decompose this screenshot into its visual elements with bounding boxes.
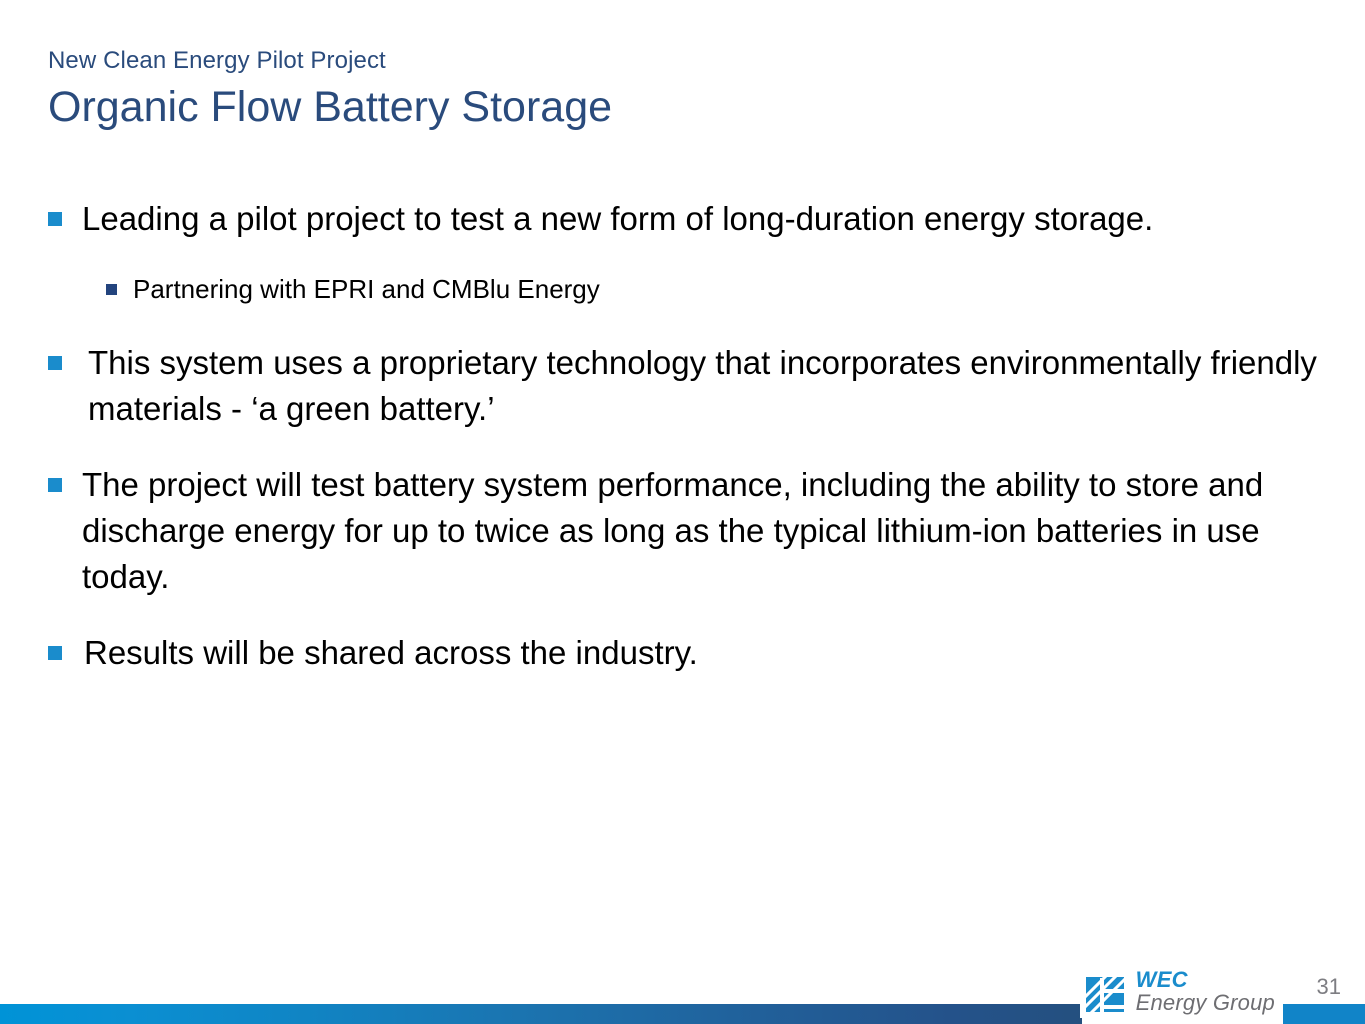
page-number: 31 — [1317, 974, 1341, 1000]
title-block: New Clean Energy Pilot Project Organic F… — [48, 46, 1248, 134]
bullet-list: Leading a pilot project to test a new fo… — [48, 196, 1338, 706]
list-item-label: Leading a pilot project to test a new fo… — [82, 196, 1153, 242]
wec-logo-text: WEC Energy Group — [1136, 969, 1275, 1014]
list-item-label: The project will test battery system per… — [82, 462, 1312, 600]
list-item: Results will be shared across the indust… — [48, 630, 1338, 676]
wec-logo-brand-secondary: Energy Group — [1136, 992, 1275, 1014]
bullet-square-icon — [48, 478, 62, 492]
list-item: This system uses a proprietary technolog… — [48, 340, 1338, 432]
list-item-sub-label: Partnering with EPRI and CMBlu Energy — [133, 272, 600, 306]
wec-energy-group-logo: WEC Energy Group — [1080, 965, 1283, 1018]
list-item-sub: Partnering with EPRI and CMBlu Energy — [106, 272, 1338, 306]
bullet-square-icon — [48, 212, 62, 226]
sub-bullet-square-icon — [106, 284, 117, 295]
list-item: Leading a pilot project to test a new fo… — [48, 196, 1338, 242]
footer-gradient-bar — [0, 1004, 1082, 1024]
bullet-square-icon — [48, 356, 62, 370]
slide-canvas: New Clean Energy Pilot Project Organic F… — [0, 0, 1365, 1024]
list-item-label: Results will be shared across the indust… — [82, 630, 698, 676]
wec-logo-mark-icon — [1086, 972, 1128, 1012]
footer-accent-block — [1283, 1004, 1365, 1024]
wec-logo-brand-primary: WEC — [1136, 969, 1275, 991]
list-item: The project will test battery system per… — [48, 462, 1338, 600]
list-item-label: This system uses a proprietary technolog… — [82, 340, 1318, 432]
slide-eyebrow: New Clean Energy Pilot Project — [48, 46, 1248, 76]
bullet-square-icon — [48, 646, 62, 660]
page-title: Organic Flow Battery Storage — [48, 80, 1248, 134]
